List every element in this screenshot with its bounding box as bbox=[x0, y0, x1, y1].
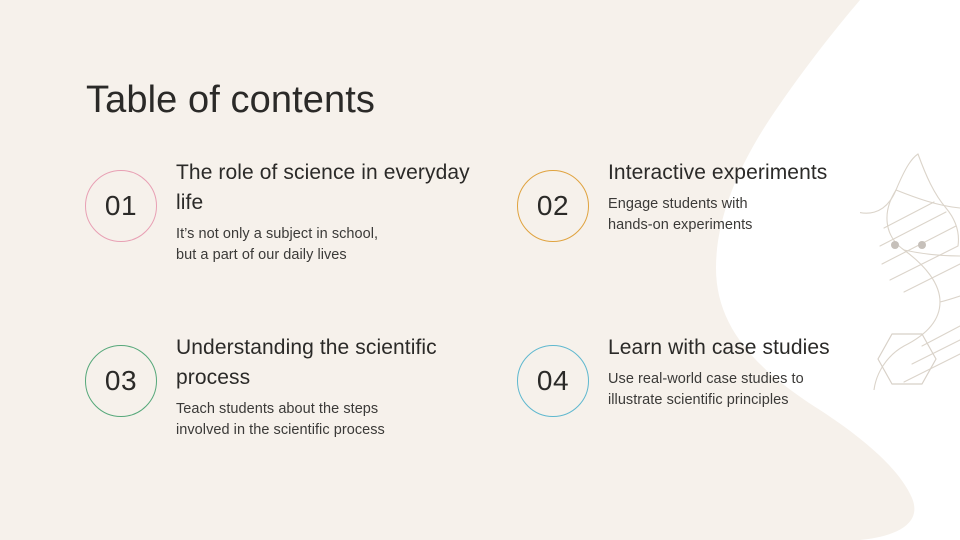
toc-description-04: Use real-world case studies to illustrat… bbox=[608, 369, 908, 412]
slide-content: Table of contents 01 The role of science… bbox=[0, 0, 960, 540]
toc-number-badge-02: 02 bbox=[517, 170, 589, 242]
toc-title-03: Understanding the scientific process bbox=[176, 333, 476, 393]
slide-canvas: Table of contents 01 The role of science… bbox=[0, 0, 960, 540]
toc-text-block-04: Learn with case studies Use real-world c… bbox=[608, 333, 908, 412]
toc-description-02: Engage students with hands-on experiment… bbox=[608, 194, 908, 237]
toc-text-block-01: The role of science in everyday life It’… bbox=[176, 158, 476, 267]
toc-description-01: It’s not only a subject in school, but a… bbox=[176, 224, 476, 267]
page-title: Table of contents bbox=[86, 79, 375, 123]
toc-title-01: The role of science in everyday life bbox=[176, 158, 476, 218]
toc-number-badge-03: 03 bbox=[85, 345, 157, 417]
toc-number-badge-04: 04 bbox=[517, 345, 589, 417]
toc-text-block-02: Interactive experiments Engage students … bbox=[608, 158, 908, 237]
toc-text-block-03: Understanding the scientific process Tea… bbox=[176, 333, 476, 442]
toc-number-badge-01: 01 bbox=[85, 170, 157, 242]
toc-number-04: 04 bbox=[537, 367, 569, 395]
toc-description-03: Teach students about the steps involved … bbox=[176, 399, 476, 442]
toc-title-02: Interactive experiments bbox=[608, 158, 908, 188]
toc-number-03: 03 bbox=[105, 367, 137, 395]
toc-title-04: Learn with case studies bbox=[608, 333, 908, 363]
toc-number-01: 01 bbox=[105, 192, 137, 220]
toc-number-02: 02 bbox=[537, 192, 569, 220]
